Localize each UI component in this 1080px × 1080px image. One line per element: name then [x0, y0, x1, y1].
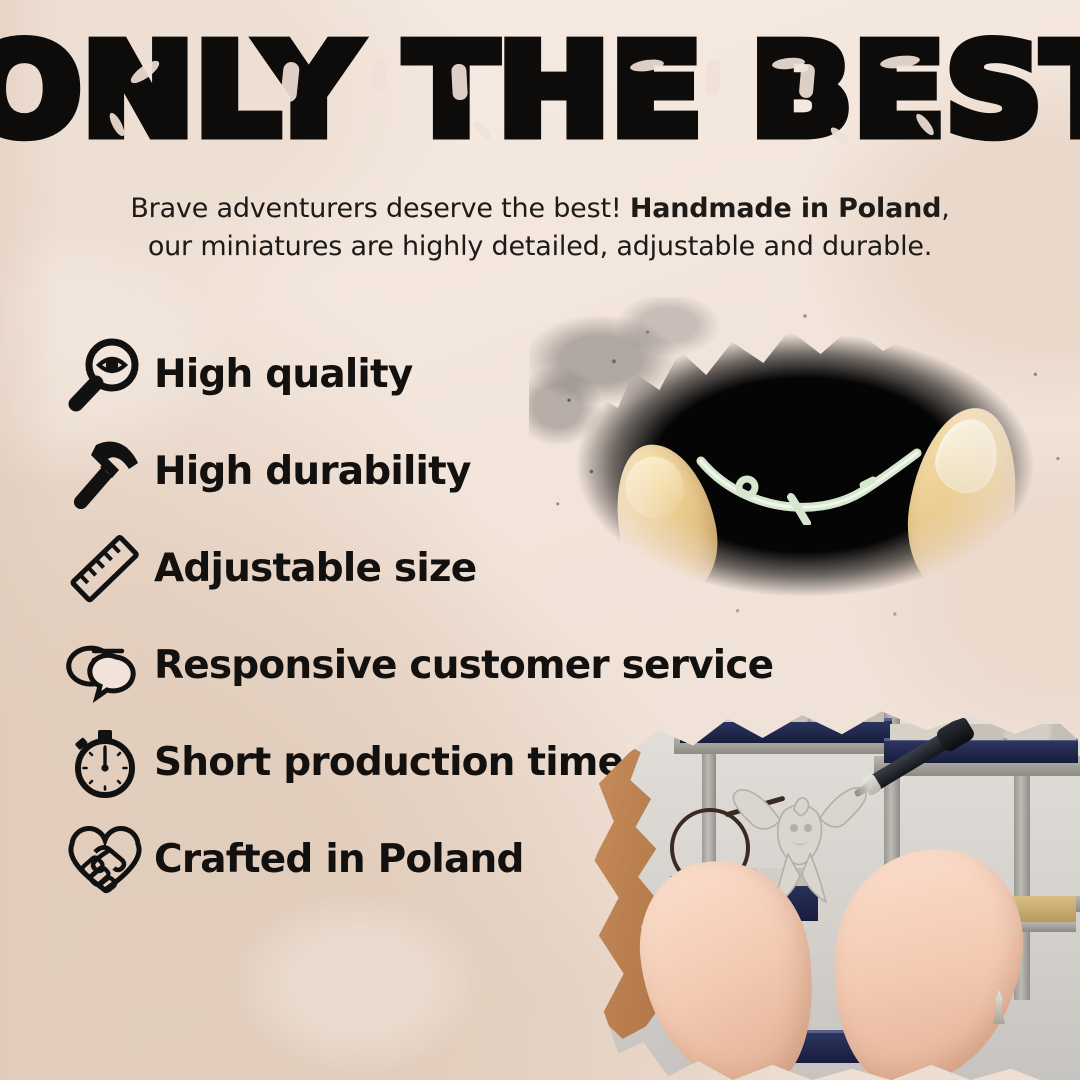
feature-label: Responsive customer service	[154, 643, 773, 688]
photo-fingers-bending-miniature	[545, 315, 1065, 615]
photo-hands-painting-dragon	[584, 700, 1080, 1080]
feature-label: Adjustable size	[154, 546, 476, 591]
feature-label: High quality	[154, 352, 412, 397]
subtitle-line2: our miniatures are highly detailed, adju…	[148, 231, 932, 262]
torn-ink-frame	[545, 315, 1065, 615]
tray-miniatures	[890, 724, 1076, 740]
tray-miniatures	[688, 706, 884, 722]
magnifier-eye-icon	[62, 335, 148, 415]
ruler-icon	[62, 529, 148, 609]
page-title: ONLY THE BEST	[0, 28, 1080, 154]
miniature-tray	[680, 718, 892, 743]
speech-bubbles-icon	[62, 626, 148, 706]
torn-paper-frame	[584, 700, 1080, 1080]
miniature-flexible-part	[695, 435, 945, 525]
infographic-canvas: ONLY THE BEST Brave adventurers deserve …	[0, 0, 1080, 1080]
subtitle-emphasis: Handmade in Poland	[630, 193, 941, 224]
stopwatch-icon	[62, 723, 148, 803]
subtitle: Brave adventurers deserve the best! Hand…	[90, 190, 990, 267]
feature-label: Crafted in Poland	[154, 837, 524, 882]
headline-block: ONLY THE BEST	[0, 0, 1080, 190]
subtitle-lead: Brave adventurers deserve the best!	[130, 193, 621, 224]
feature-label: High durability	[154, 449, 471, 494]
tool-tip	[853, 782, 872, 797]
subtitle-comma: ,	[941, 193, 949, 224]
hammer-icon	[62, 432, 148, 512]
handshake-heart-icon	[62, 820, 148, 900]
feature-label: Short production time	[154, 740, 623, 785]
